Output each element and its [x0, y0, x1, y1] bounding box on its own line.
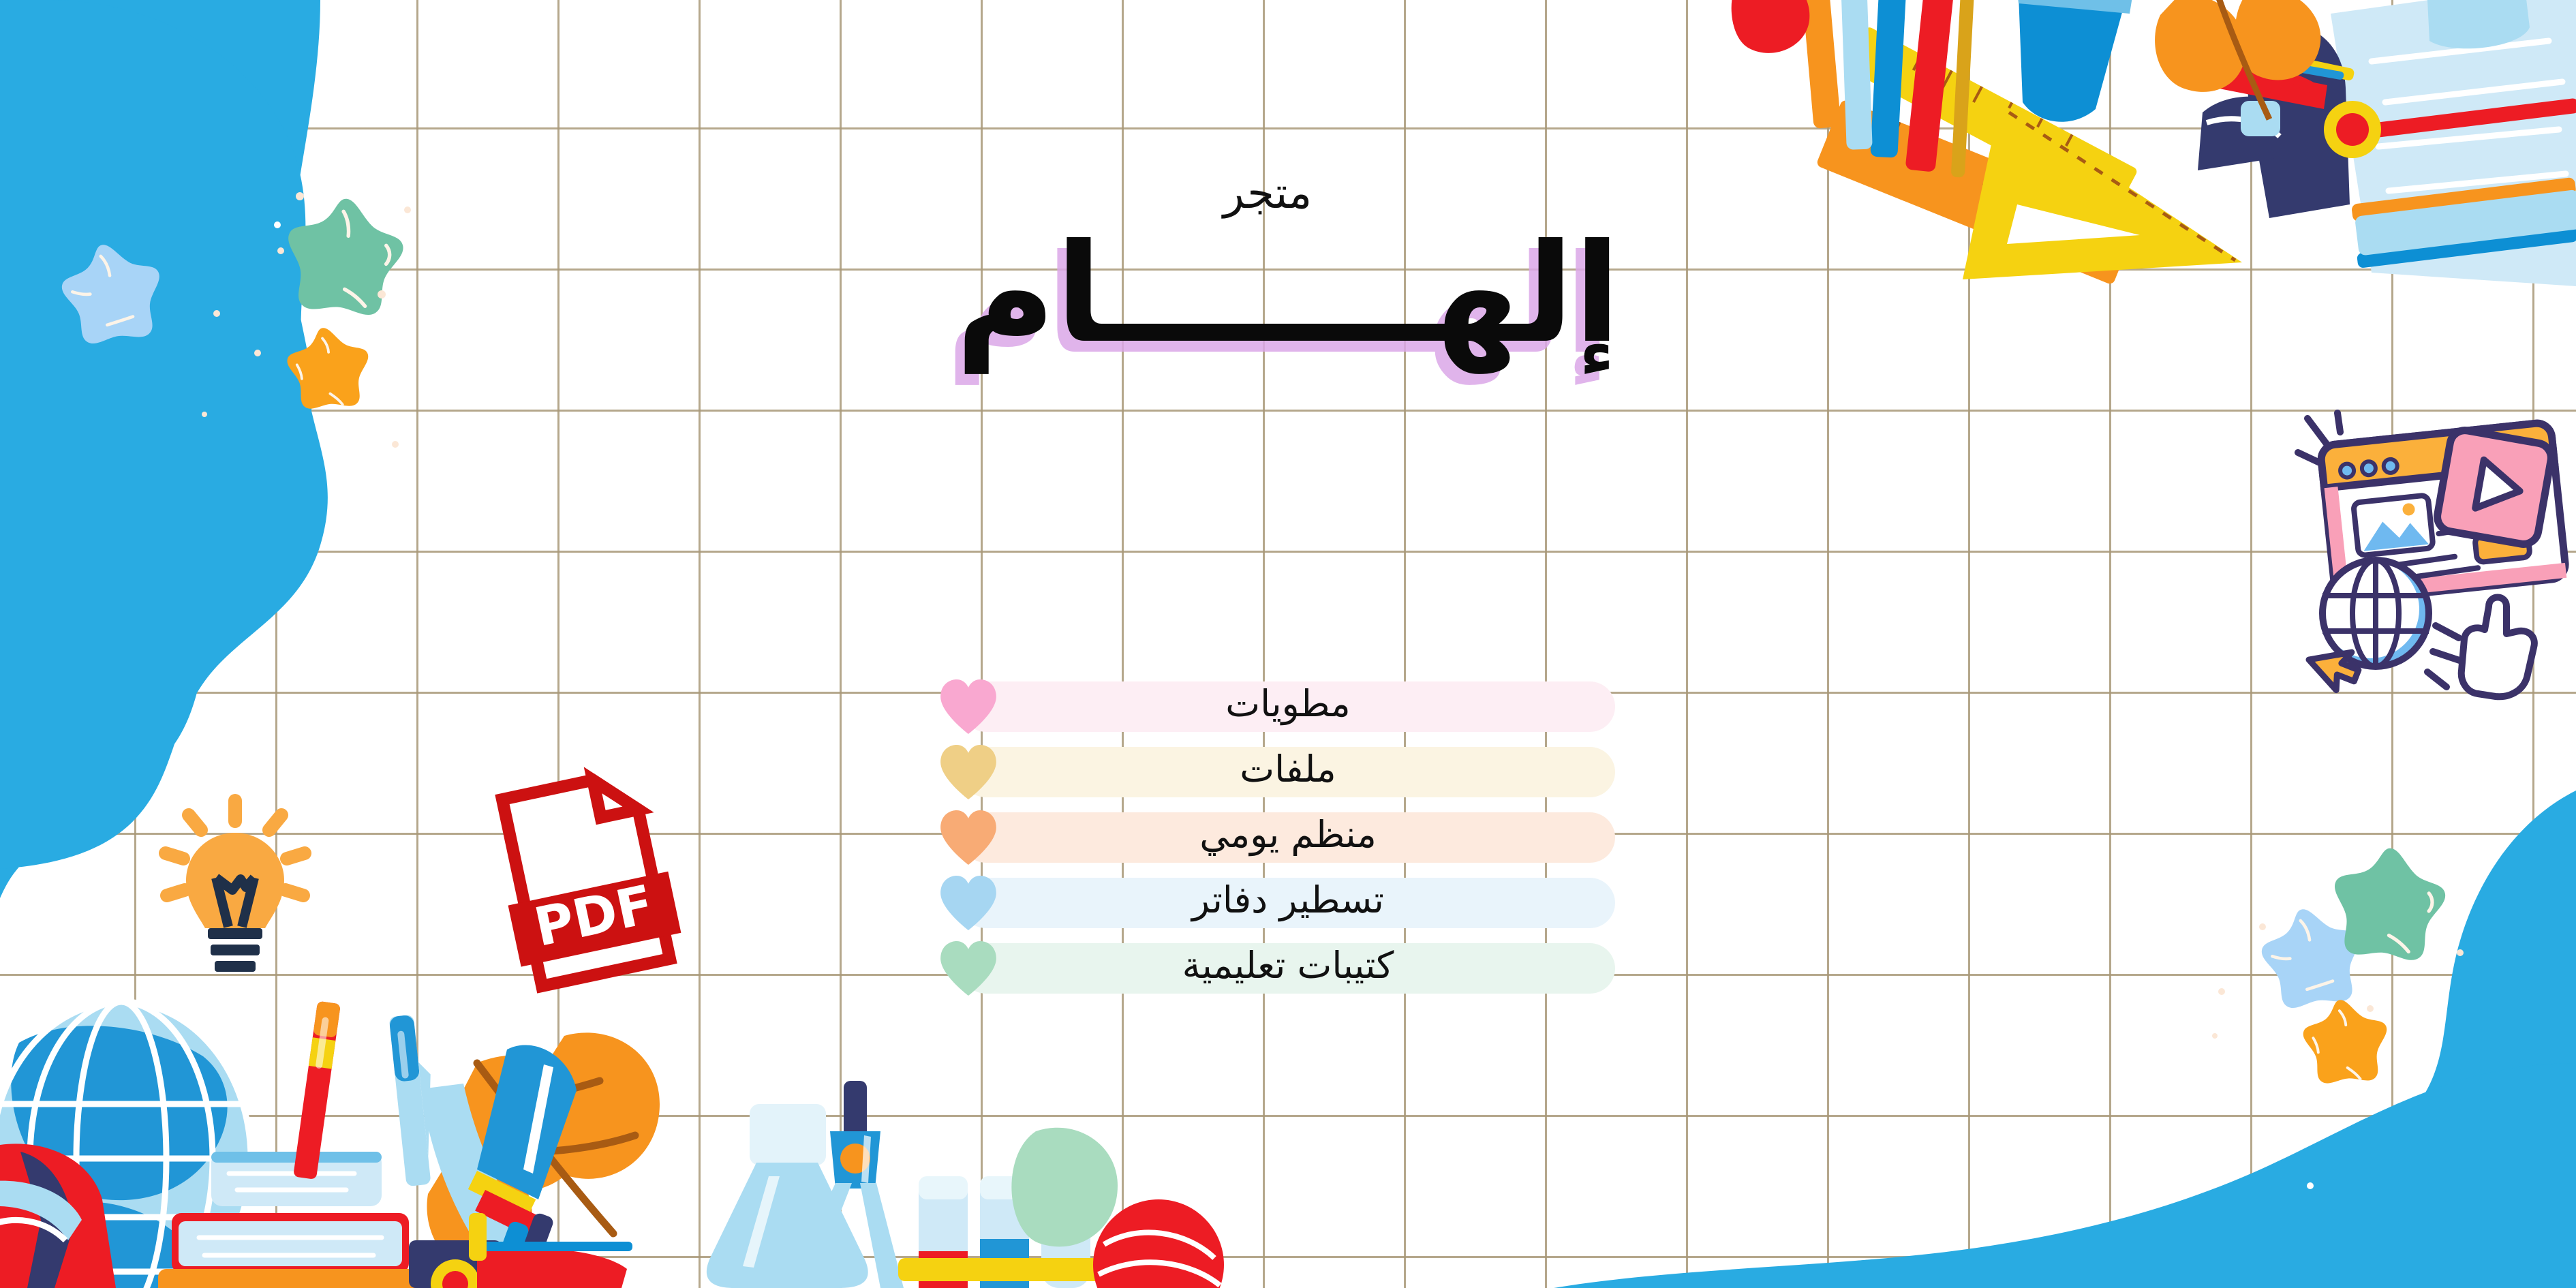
menu-item-label: تسطير دفاتر [1192, 882, 1384, 919]
menu-item-munazzim-yawmi[interactable]: منظم يومي [961, 812, 1615, 863]
menu-item-label: مطويات [1225, 686, 1350, 722]
heart-icon [939, 745, 998, 799]
brand-kicker: متجر [777, 172, 1799, 215]
menu-item-matwiyat[interactable]: مطويات [961, 681, 1615, 732]
menu-item-kutayyibat-taalimiya[interactable]: كتيبات تعليمية [961, 943, 1615, 994]
brand-title-wrap: إلهـــــــام إلهـــــــام [777, 226, 1799, 369]
brand-title: إلهـــــــام [777, 226, 1799, 363]
category-menu: مطويات ملفات منظم يومي [961, 681, 1615, 994]
menu-item-tastir-dafatir[interactable]: تسطير دفاتر [961, 878, 1615, 928]
menu-item-label: ملفات [1240, 751, 1336, 788]
menu-item-label: منظم يومي [1199, 816, 1376, 853]
menu-item-label: كتيبات تعليمية [1182, 947, 1394, 984]
heart-icon [939, 876, 998, 930]
menu-item-malafat[interactable]: ملفات [961, 747, 1615, 797]
heart-icon [939, 810, 998, 865]
banner-canvas: PDF [0, 0, 2576, 1288]
heart-icon [939, 941, 998, 996]
brand-block: متجر إلهـــــــام إلهـــــــام [777, 172, 1799, 369]
heart-icon [939, 679, 998, 734]
